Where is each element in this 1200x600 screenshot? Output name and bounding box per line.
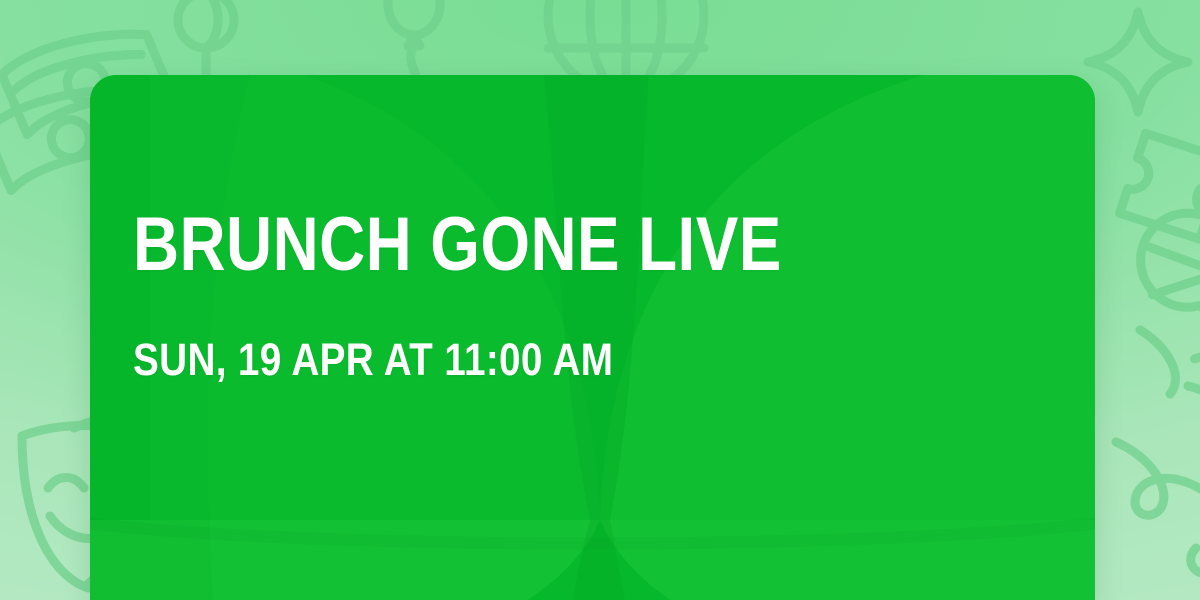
event-card[interactable]: BRUNCH GONE LIVE SUN, 19 APR AT 11:00 AM: [90, 75, 1095, 600]
event-text-block: BRUNCH GONE LIVE SUN, 19 APR AT 11:00 AM: [133, 75, 1033, 600]
event-datetime: SUN, 19 APR AT 11:00 AM: [133, 337, 613, 382]
balloon-string-icon: [1116, 386, 1200, 574]
promo-banner-canvas: BRUNCH GONE LIVE SUN, 19 APR AT 11:00 AM: [0, 0, 1200, 600]
sparkle-star-icon: [1088, 12, 1188, 112]
swirl-icon: [1140, 330, 1175, 394]
event-title: BRUNCH GONE LIVE: [133, 207, 782, 283]
